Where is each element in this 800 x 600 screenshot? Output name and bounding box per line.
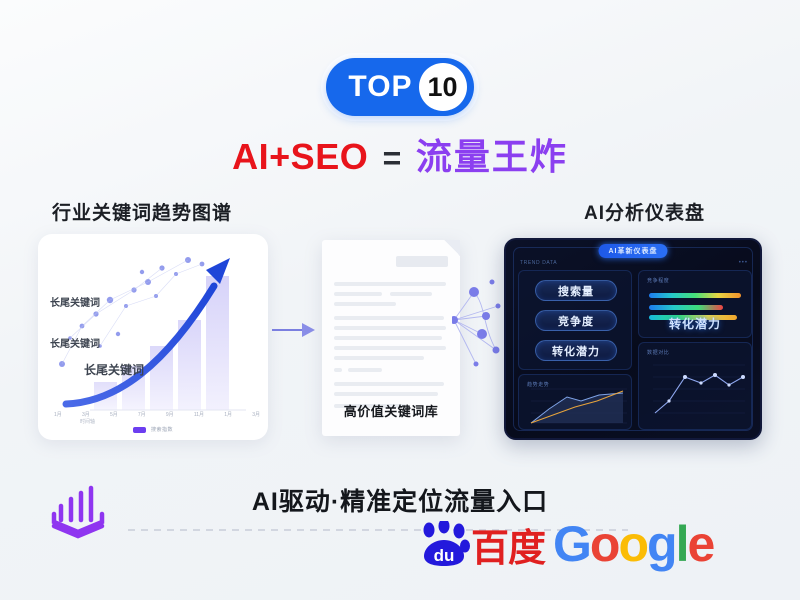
metric-pill-conversion-potential[interactable]: 转化潜力 (535, 340, 617, 361)
top-10-badge: TOP 10 (326, 58, 473, 116)
metric-pill-competition[interactable]: 竞争度 (535, 310, 617, 331)
right-section-caption: AI分析仪表盘 (584, 198, 705, 225)
google-letter-e: e (687, 519, 713, 569)
keyword-label-3: 长尾关键词 (84, 361, 144, 378)
headline-right: 流量王炸 (416, 136, 568, 177)
chart-legend: 搜索指数 (133, 426, 173, 433)
trend-chart-card: 长尾关键词 长尾关键词 长尾关键词 1月 3月 5月 7月 9月 11月 1月 … (38, 234, 268, 440)
dashboard-header-badge: AI革新仪表盘 (599, 244, 668, 258)
dashboard-brand-label: TREND DATA (520, 260, 557, 266)
line-panel-title: 数据对比 (647, 349, 669, 356)
gauge-overlay-label: 转化潜力 (639, 315, 751, 332)
poster-canvas: TOP 10 AI+SEO = 流量王炸 行业关键词趋势图谱 AI分析仪表盘 (0, 0, 800, 600)
doc-header-chip (396, 256, 448, 267)
keyword-label-1: 长尾关键词 (50, 294, 100, 309)
gauge-panel-title: 竞争程度 (647, 277, 669, 284)
analytics-podium-icon (47, 484, 111, 544)
keyword-label-2: 长尾关键词 (50, 335, 100, 350)
baidu-du-text: du (434, 546, 455, 565)
legend-label: 搜索指数 (151, 426, 173, 433)
trend-area-panel: 趋势走势 (518, 374, 632, 430)
metrics-panel: 搜索量 竞争度 转化潜力 (518, 270, 632, 370)
chart-x-axis-label: 时间轴 (80, 418, 95, 425)
document-label: 高价值关键词库 (322, 401, 460, 420)
google-letter-l: l (676, 519, 688, 569)
legend-swatch-icon (133, 427, 146, 433)
top-badge-wrap: TOP 10 (0, 58, 800, 116)
x-tick-0: 1月 (54, 411, 62, 418)
x-tick-1: 3月 (82, 411, 90, 418)
headline: AI+SEO = 流量王炸 (0, 128, 800, 180)
google-letter-g1: G (553, 519, 590, 569)
baidu-chinese-text: 百度 (471, 531, 545, 567)
gauge-bar-1 (649, 293, 741, 298)
metric-pill-search-volume[interactable]: 搜索量 (535, 280, 617, 301)
google-letter-g2: g (647, 519, 676, 569)
line-chart-svg (639, 343, 753, 431)
x-tick-2: 5月 (110, 411, 118, 418)
flow-arrow-icon (272, 322, 316, 338)
footer-tagline: AI驱动·精准定位流量入口 (0, 482, 800, 518)
area-panel-title: 趋势走势 (527, 381, 549, 388)
badge-number: 10 (419, 63, 467, 111)
x-tick-6: 1月 (224, 411, 232, 418)
ai-dashboard-card: AI革新仪表盘 TREND DATA ••• 搜索量 竞争度 转化潜力 趋势走势… (504, 238, 762, 440)
google-logo: G o o g l e (553, 519, 713, 569)
keyword-document-card: 高价值关键词库 (322, 240, 460, 436)
baidu-paw-icon: du (418, 521, 470, 567)
x-tick-7: 3月 (252, 411, 260, 418)
node-network-graphic (452, 276, 510, 368)
google-letter-o1: o (590, 519, 619, 569)
chart-x-axis: 1月 3月 5月 7月 9月 11月 1月 3月 (54, 411, 260, 418)
headline-left: AI+SEO (232, 136, 368, 177)
badge-top-label: TOP (348, 72, 412, 102)
baidu-logo: du 百度 (418, 521, 545, 567)
dashboard-menu-icon[interactable]: ••• (739, 260, 748, 266)
gauge-bar-2 (649, 305, 723, 310)
headline-operator: = (383, 140, 402, 176)
x-tick-3: 7月 (138, 411, 146, 418)
page-fold-icon (444, 240, 460, 256)
gauge-panel: 竞争程度 转化潜力 (638, 270, 752, 338)
comparison-line-panel: 数据对比 (638, 342, 752, 430)
search-engine-logos: du 百度 G o o g l e (418, 519, 713, 569)
left-section-caption: 行业关键词趋势图谱 (52, 198, 232, 225)
x-tick-5: 11月 (194, 411, 204, 418)
x-tick-4: 9月 (166, 411, 174, 418)
google-letter-o2: o (618, 519, 647, 569)
